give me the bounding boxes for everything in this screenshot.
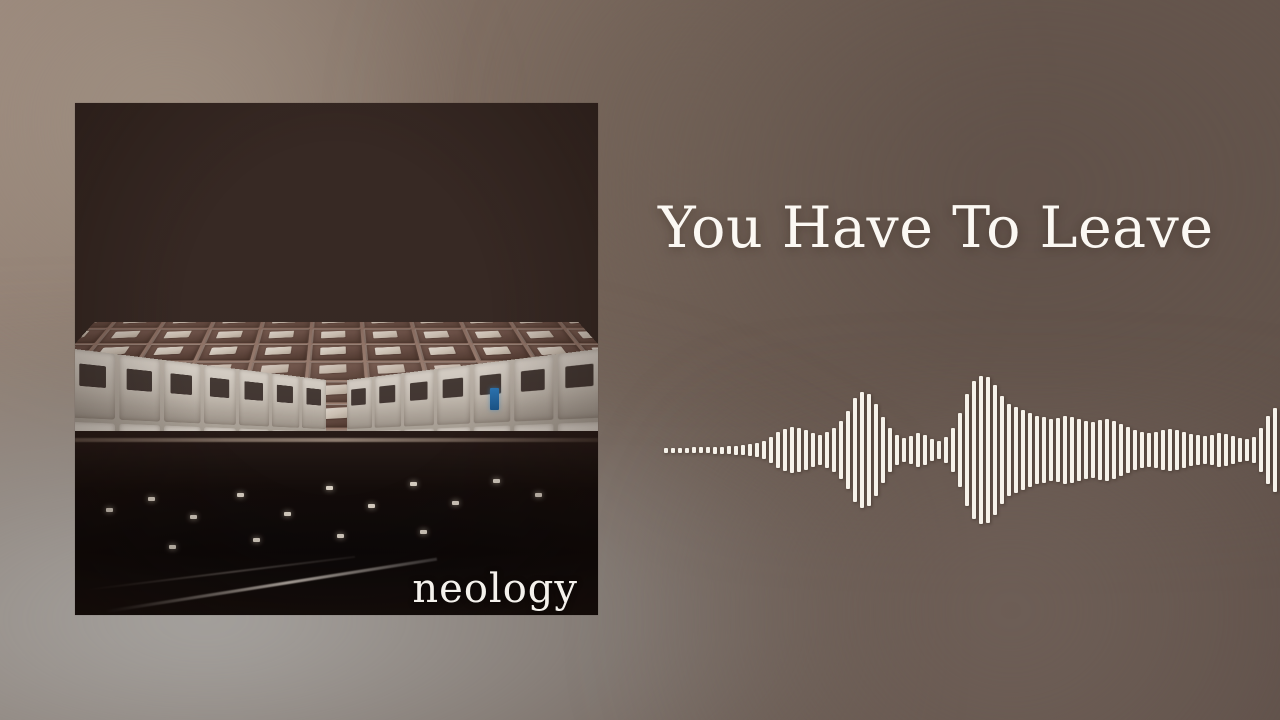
waveform-bar [853,398,857,502]
waveform-bar [1119,424,1123,476]
waveform-bar [1259,428,1263,472]
track-title: You Have To Leave [658,198,1214,260]
waveform-bar [706,447,710,453]
waveform-bar [1161,430,1165,470]
waveform-bar [1210,435,1214,465]
waveform-bar [1175,430,1179,470]
waveform-bar [832,428,836,472]
waveform-bar [1273,408,1277,492]
waveform-bar [1007,404,1011,496]
waveform-bar [804,430,808,470]
waveform-bar [979,376,983,524]
waveform-bar [902,438,906,462]
waveform-bar [895,435,899,465]
waveform-bar [1084,421,1088,479]
waveform-bar [972,381,976,519]
waveform-bar [776,432,780,468]
waveform-bar [762,441,766,459]
waveform-bar [951,428,955,472]
waveform-bar [1168,429,1172,471]
waveform-bar [1063,416,1067,484]
waveform-bar [881,417,885,483]
waveform-bar [1021,410,1025,490]
waveform-bar [783,429,787,471]
waveform-bar [993,385,997,515]
waveform-bar [1196,435,1200,465]
waveform-bar [1000,396,1004,504]
artist-name: neology [412,569,578,609]
waveform-bar [671,448,675,453]
waveform-bar [1105,419,1109,481]
waveform-bar [1056,418,1060,482]
waveform-bar [755,443,759,457]
waveform-bar [811,433,815,467]
waveform-bar [1231,436,1235,464]
waveform-bar [1147,433,1151,467]
waveform-bar [818,435,822,465]
waveform-bar [678,448,682,453]
waveform-bar [888,428,892,472]
waveform-bar [846,411,850,489]
waveform-bar [1091,422,1095,478]
waveform-bar [1098,420,1102,480]
waveform-bar [1014,407,1018,493]
waveform-bar [1070,417,1074,483]
waveform-bar [965,394,969,506]
music-player-visual: neology You Have To Leave [0,0,1280,720]
waveform-bar [769,437,773,463]
artwork-photo [75,103,598,615]
waveform-bar [1238,438,1242,462]
waveform-bar [825,432,829,468]
waveform-bar [909,436,913,464]
waveform-bar [1035,416,1039,484]
waveform-bar [1224,434,1228,466]
waveform-bar [860,392,864,508]
waveform-bar [1112,421,1116,479]
waveform-bar [923,435,927,465]
waveform-bar [1028,413,1032,487]
waveform-bar [1154,432,1158,468]
waveform-bar [797,428,801,472]
waveform-bar [1077,419,1081,481]
waveform-bar [867,394,871,506]
waveform-bar [664,448,668,453]
waveform-bar [958,413,962,487]
waveform-bar [790,427,794,473]
waveform-bar [720,447,724,454]
waveform-bar [916,433,920,467]
waveform-bar [944,437,948,463]
waveform-bar [839,421,843,479]
audio-waveform[interactable] [664,370,1164,530]
waveform-bar [1042,417,1046,483]
waveform-bar [1217,433,1221,467]
waveform-bar [1126,427,1130,473]
waveform-bar [1245,439,1249,461]
waveform-bar [986,377,990,523]
waveform-bar [1252,437,1256,463]
waveform-bar [937,441,941,459]
waveform-bar [741,445,745,455]
waveform-bar [1182,432,1186,468]
waveform-bar [734,446,738,455]
waveform-bar [713,447,717,454]
waveform-bar [1266,416,1270,484]
waveform-bar [1133,430,1137,470]
waveform-bar [1049,419,1053,481]
waveform-bar [748,444,752,456]
album-artwork[interactable]: neology [75,103,598,615]
waveform-bar [692,447,696,453]
waveform-bar [1189,434,1193,466]
waveform-bar [930,439,934,461]
artwork-vignette [75,103,598,615]
waveform-bar [1203,436,1207,464]
waveform-bar [727,446,731,454]
waveform-bar [874,404,878,496]
waveform-bar [1140,432,1144,468]
waveform-bar [685,448,689,453]
waveform-bar [699,447,703,453]
